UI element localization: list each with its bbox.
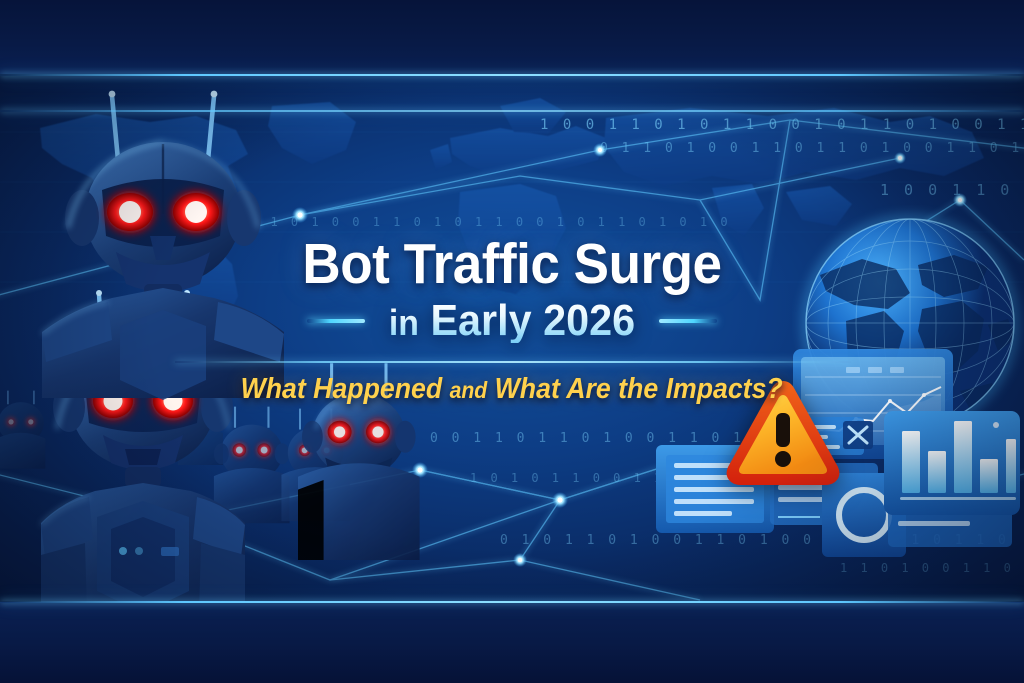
page-subtitle: in Early 2026: [389, 299, 635, 343]
tagline-part1: What Happened: [241, 373, 443, 405]
subtitle-row: in Early 2026: [0, 299, 1024, 343]
top-letterbox-band: [0, 0, 1024, 74]
tagline-part2: What Are the Impacts?: [495, 373, 783, 405]
headline-block: Bot Traffic Surge in Early 2026: [0, 236, 1024, 343]
dash-right-icon: [659, 319, 717, 323]
bottom-letterbox-band: [0, 602, 1024, 683]
divider-line-top-secondary: [0, 110, 1024, 112]
tagline-block: What Happened and What Are the Impacts?: [0, 374, 1024, 406]
tagline: What Happened and What Are the Impacts?: [241, 374, 783, 406]
dash-left-icon: [307, 319, 365, 323]
tagline-and: and: [450, 377, 488, 403]
banner-graphic: 1 0 0 1 1 0 1 0 1 1 0 0 1 0 1 1 0 1 0 0 …: [0, 0, 1024, 683]
page-subtitle-lead: in: [389, 302, 419, 343]
headline-underline: [175, 361, 851, 363]
page-subtitle-main: Early 2026: [430, 296, 635, 345]
page-title: Bot Traffic Surge: [36, 236, 988, 293]
divider-line-top: [0, 74, 1024, 76]
divider-line-bottom: [0, 601, 1024, 603]
